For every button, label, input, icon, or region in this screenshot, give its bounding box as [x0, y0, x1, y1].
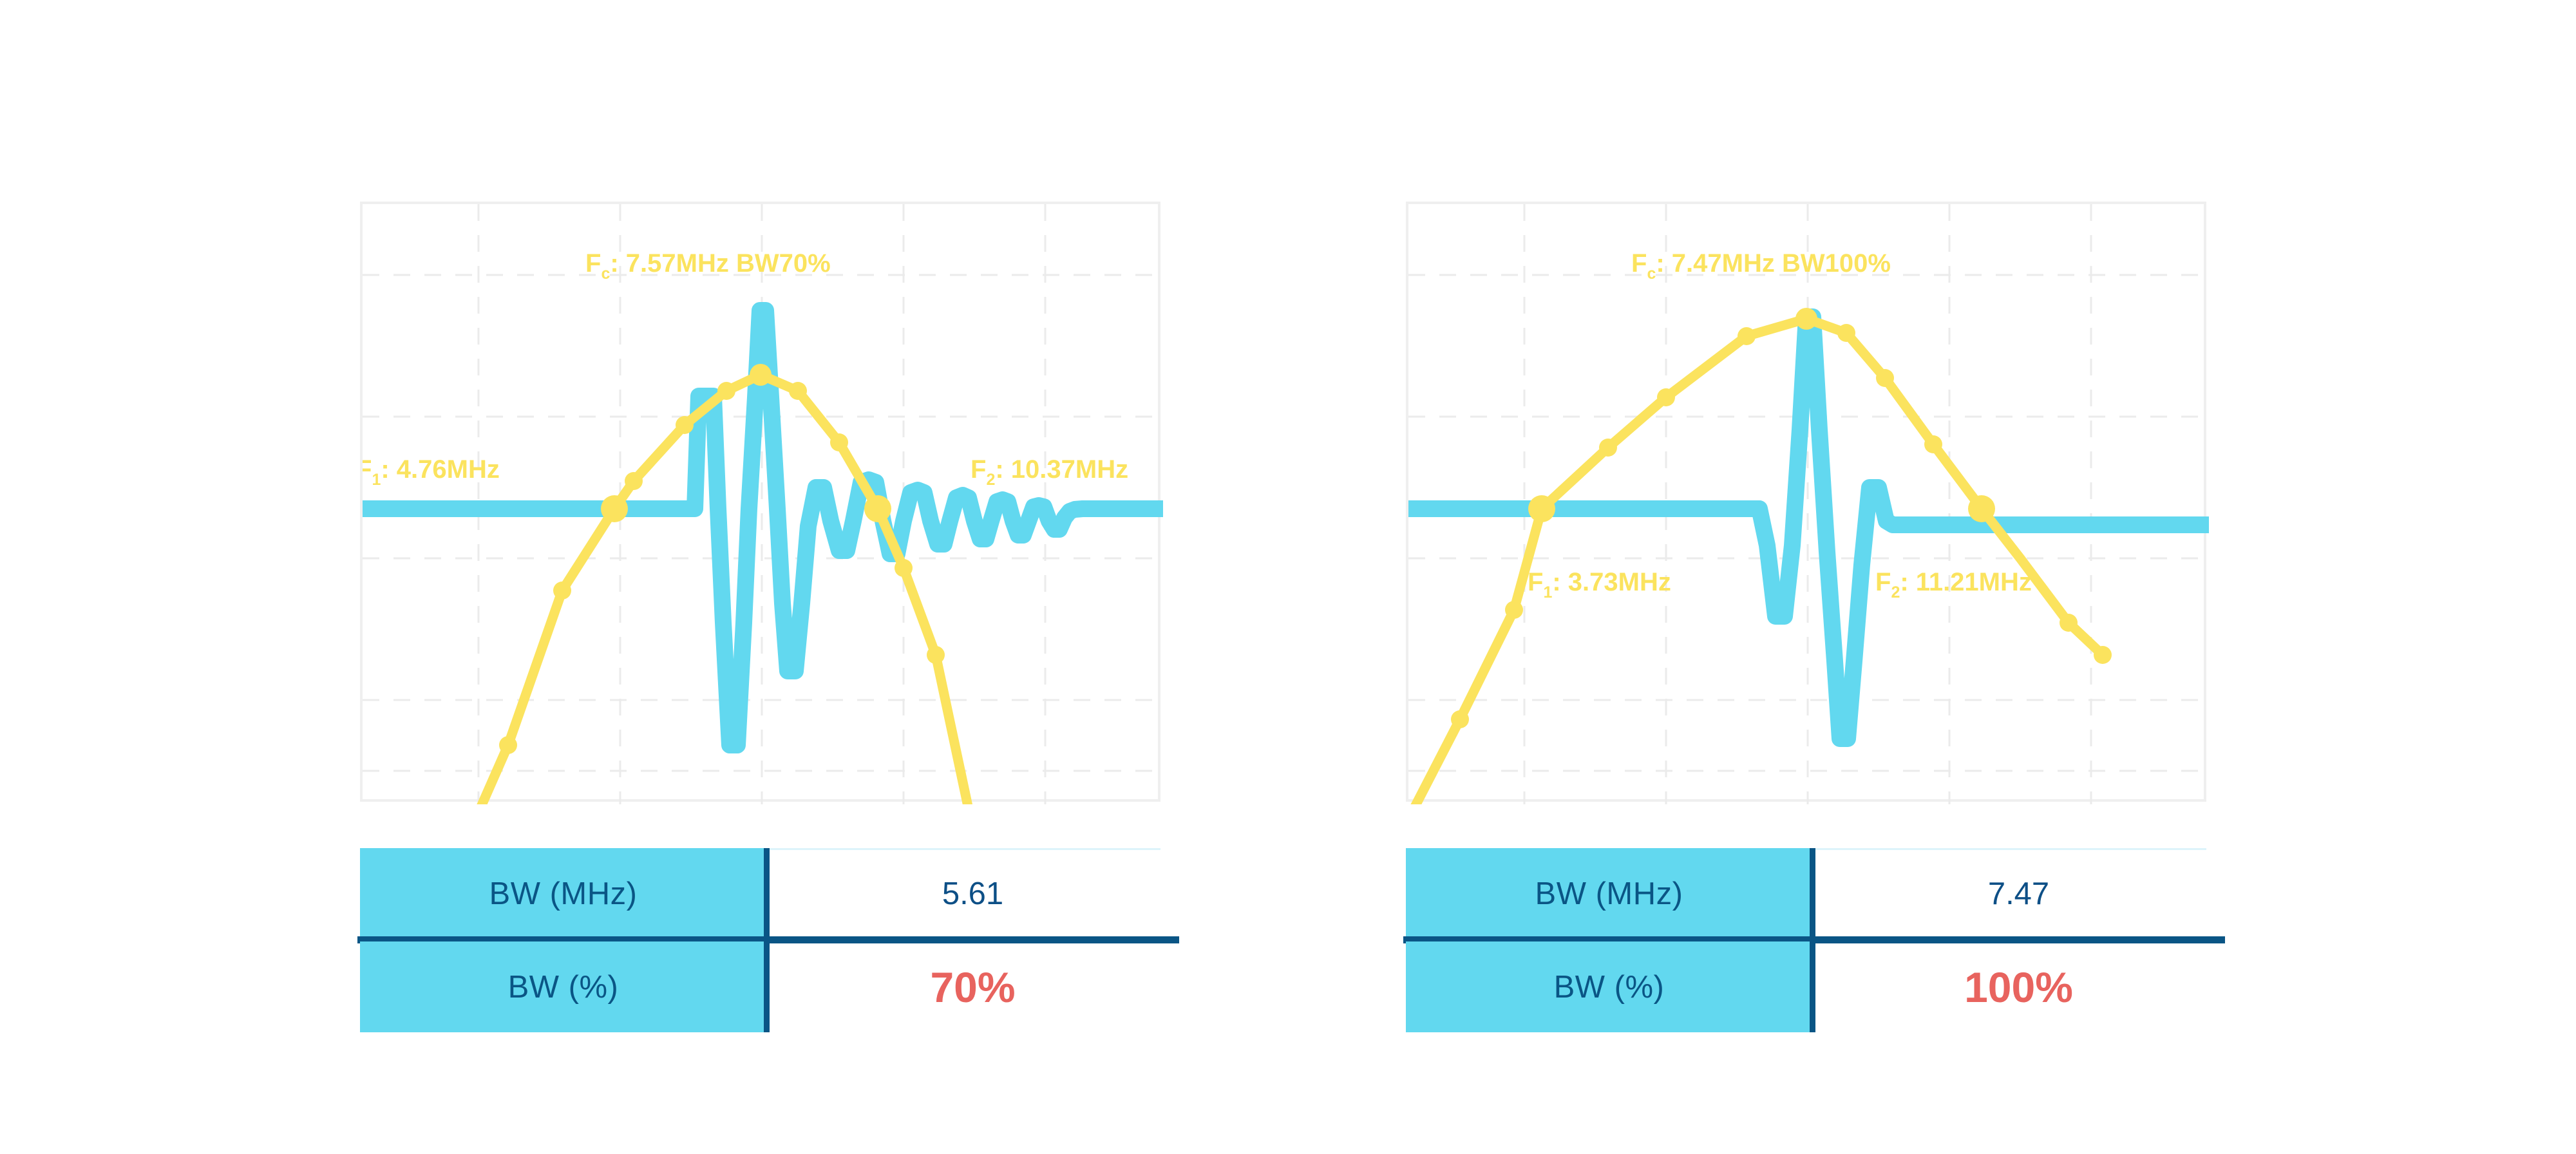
chart-bw70-svg: Fc: 7.57MHz BW70% F1: 4.76MHz F2: 10.37M…: [363, 204, 1163, 804]
row-value-bw-pct-cell: 100%: [1812, 941, 2225, 1032]
table-row-bw-pct: BW (%) 100%: [1406, 941, 2225, 1032]
f2-subscript: 2: [1891, 583, 1900, 601]
annotation-fc-bw100: Fc: 7.47MHz BW100%: [1631, 249, 1891, 283]
row-value-bw-pct: 70%: [930, 963, 1015, 1012]
page-root: Fc: 7.57MHz BW70% F1: 4.76MHz F2: 10.37M…: [0, 0, 2576, 1154]
f2-prefix: F: [1875, 568, 1891, 596]
row-value-bw-mhz: 7.47: [1988, 876, 2049, 912]
row-value-bw-mhz: 5.61: [942, 876, 1003, 912]
table-vertical-divider: [1810, 848, 1815, 1032]
row-label-bw-mhz: BW (MHz): [1535, 876, 1683, 912]
fc-rest: : 7.57MHz BW70%: [610, 249, 830, 278]
row-value-bw-pct-cell: 70%: [766, 941, 1179, 1032]
f1-subscript: 1: [1543, 583, 1552, 601]
annotation-f1-bw100: F1: 3.73MHz: [1528, 568, 1671, 601]
annotation-f1-text-bw100: F1: 3.73MHz: [1528, 568, 1671, 601]
f2-rest: : 10.37MHz: [995, 455, 1128, 484]
fc-subscript: c: [1647, 265, 1656, 283]
bw-table-bw100: BW (MHz) 7.47 BW (%) 100%: [1406, 848, 2225, 1032]
row-label-bw-mhz-cell: BW (MHz): [1406, 848, 1812, 940]
annotation-fc-text-bw100: Fc: 7.47MHz BW100%: [1631, 249, 1891, 283]
f1-prefix: F: [363, 455, 372, 484]
row-label-bw-mhz: BW (MHz): [489, 876, 638, 912]
fc-prefix: F: [585, 249, 601, 278]
f1-subscript: 1: [372, 471, 381, 489]
table-vertical-divider: [764, 848, 770, 1032]
annotation-fc-text-bw70: Fc: 7.57MHz BW70%: [585, 249, 831, 283]
f2-rest: : 11.21MHz: [1900, 568, 2032, 596]
f1-prefix: F: [1528, 568, 1543, 596]
table-row-bw-mhz: BW (MHz) 5.61: [360, 848, 1179, 940]
table-row-bw-pct: BW (%) 70%: [360, 941, 1179, 1032]
bw-table-bw70: BW (MHz) 5.61 BW (%) 70%: [360, 848, 1179, 1032]
fc-prefix: F: [1631, 249, 1647, 278]
f1-rest: : 3.73MHz: [1552, 568, 1671, 596]
f1-rest: : 4.76MHz: [381, 455, 500, 484]
row-label-bw-pct: BW (%): [1554, 969, 1665, 1005]
row-label-bw-pct-cell: BW (%): [360, 941, 766, 1032]
row-value-bw-mhz-cell: 5.61: [766, 848, 1179, 940]
annotation-f2-bw100: F2: 11.21MHz: [1875, 568, 2032, 601]
row-label-bw-pct-cell: BW (%): [1406, 941, 1812, 1032]
fc-rest: : 7.47MHz BW100%: [1656, 249, 1891, 278]
annotation-fc-bw70: Fc: 7.57MHz BW70%: [585, 249, 831, 283]
chart-bw100-svg: Fc: 7.47MHz BW100% F1: 3.73MHz F2: 11.21…: [1408, 204, 2209, 804]
annotation-f2-bw70: F2: 10.37MHz: [971, 455, 1128, 489]
f2-prefix: F: [971, 455, 986, 484]
row-label-bw-pct: BW (%): [508, 969, 619, 1005]
fc-subscript: c: [601, 265, 610, 283]
row-value-bw-pct: 100%: [1964, 963, 2073, 1012]
chart-bw100: Fc: 7.47MHz BW100% F1: 3.73MHz F2: 11.21…: [1406, 202, 2206, 802]
annotation-f2-text-bw70: F2: 10.37MHz: [971, 455, 1128, 489]
row-value-bw-mhz-cell: 7.47: [1812, 848, 2225, 940]
f2-subscript: 2: [986, 471, 995, 489]
table-row-bw-mhz: BW (MHz) 7.47: [1406, 848, 2225, 940]
annotation-f2-text-bw100: F2: 11.21MHz: [1875, 568, 2032, 601]
chart-bw70: Fc: 7.57MHz BW70% F1: 4.76MHz F2: 10.37M…: [360, 202, 1160, 802]
row-label-bw-mhz-cell: BW (MHz): [360, 848, 766, 940]
